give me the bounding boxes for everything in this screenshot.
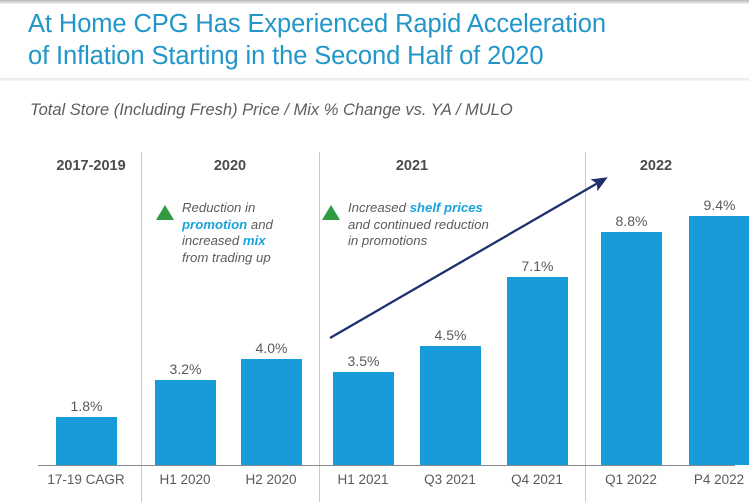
annot1-mid: and [247,217,273,232]
bar-rect-5[interactable] [507,277,568,465]
chart-subtitle: Total Store (Including Fresh) Price / Mi… [30,101,513,120]
green-triangle-up-icon-2 [322,205,340,220]
bar-value-label-3: 3.5% [333,353,394,369]
bar-value-label-7: 9.4% [689,197,749,213]
x-axis-label-0: 17-19 CAGR [46,472,126,487]
title-line-2: of Inflation Starting in the Second Half… [28,40,718,72]
x-axis-label-1: H1 2020 [145,472,225,487]
bar-rect-7[interactable] [689,216,749,465]
annot1-line1-pre: Reduction in [182,200,255,215]
bar-value-label-5: 7.1% [507,258,568,274]
bar-rect-1[interactable] [155,380,216,465]
annot1-line2-pre: increased [182,233,243,248]
bar-value-label-4: 4.5% [420,327,481,343]
bar-rect-4[interactable] [420,346,481,465]
annotation-shelf-prices: Increased shelf prices and continued red… [348,200,538,250]
annot2-highlight-shelf-prices: shelf prices [410,200,483,215]
title-line-1: At Home CPG Has Experienced Rapid Accele… [28,8,718,40]
period-header-2022: 2022 [615,158,697,174]
title-divider [0,78,749,81]
x-axis-label-6: Q1 2022 [591,472,671,487]
window-top-strip [0,0,749,4]
page-title: At Home CPG Has Experienced Rapid Accele… [28,8,718,72]
x-axis-label-7: P4 2022 [679,472,749,487]
bar-value-label-2: 4.0% [241,340,302,356]
bar-value-label-0: 1.8% [56,398,117,414]
annot1-highlight-mix: mix [243,233,266,248]
bar-rect-3[interactable] [333,372,394,465]
green-triangle-up-icon-1 [156,205,174,220]
x-axis-label-5: Q4 2021 [497,472,577,487]
period-header-2017-2019: 2017-2019 [50,158,132,174]
annotation-promotion-mix: Reduction in promotion and increased mix… [182,200,312,266]
x-axis-label-3: H1 2021 [323,472,403,487]
annot1-highlight-promotion: promotion [182,217,247,232]
section-divider-2 [319,152,320,502]
annot1-line3: from trading up [182,250,271,265]
annot2-line2: and continued reduction [348,217,489,232]
bar-value-label-1: 3.2% [155,361,216,377]
chart-plot-area: 2017-2019 2020 2021 2022 Reduction in pr… [30,150,735,502]
section-divider-3 [585,152,586,502]
bar-rect-6[interactable] [601,232,662,465]
bar-rect-2[interactable] [241,359,302,465]
x-axis-label-2: H2 2020 [231,472,311,487]
bar-value-label-6: 8.8% [601,213,662,229]
period-header-2021: 2021 [371,158,453,174]
x-axis-label-4: Q3 2021 [410,472,490,487]
annot2-line3: in promotions [348,233,427,248]
annot2-line1-pre: Increased [348,200,410,215]
section-divider-1 [141,152,142,502]
bar-rect-0[interactable] [56,417,117,465]
period-header-2020: 2020 [189,158,271,174]
slide-canvas: At Home CPG Has Experienced Rapid Accele… [0,0,749,502]
axis-baseline [38,465,735,466]
